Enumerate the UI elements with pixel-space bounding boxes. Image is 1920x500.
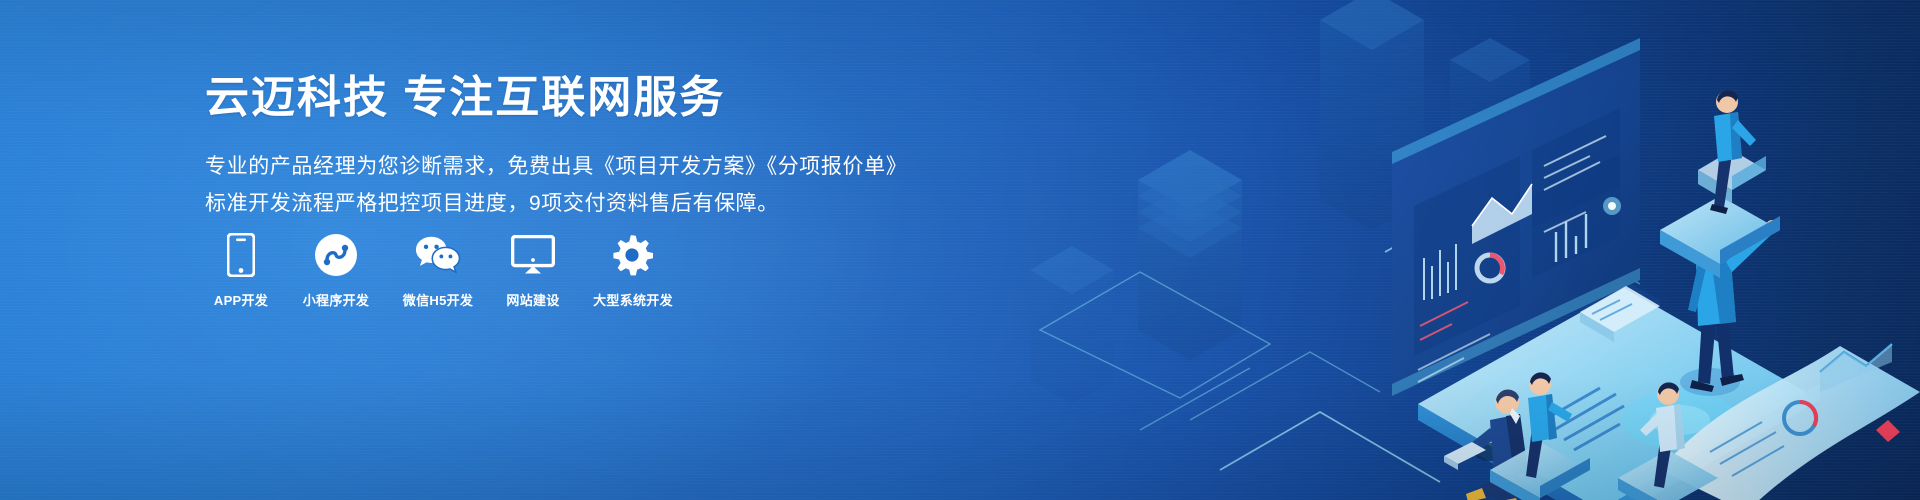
hero-subtitle: 专业的产品经理为您诊断需求，免费出具《项目开发方案》《分项报价单》 标准开发流程… (205, 148, 905, 222)
service-label: 大型系统开发 (593, 290, 673, 309)
mobile-phone-icon (218, 232, 264, 278)
gear-icon (610, 232, 656, 278)
service-item-wechat-h5[interactable]: 微信H5开发 (395, 232, 481, 309)
subtitle-line-2: 标准开发流程严格把控项目进度，9项交付资料售后有保障。 (205, 185, 905, 222)
monitor-icon (510, 232, 556, 278)
hero-banner: 云迈科技 专注互联网服务 专业的产品经理为您诊断需求，免费出具《项目开发方案》《… (0, 0, 1920, 500)
service-item-enterprise-system[interactable]: 大型系统开发 (585, 232, 681, 309)
service-label: 微信H5开发 (403, 290, 473, 309)
service-label: 网站建设 (506, 290, 559, 309)
person-on-pedestal (1660, 90, 1780, 278)
subtitle-line-1: 专业的产品经理为您诊断需求，免费出具《项目开发方案》《分项报价单》 (205, 148, 905, 185)
service-list: APP开发 小程序开发 (205, 232, 681, 309)
isometric-data-platform-illustration (1020, 0, 1920, 500)
service-item-app[interactable]: APP开发 (205, 232, 277, 309)
hero-copy: 云迈科技 专注互联网服务 专业的产品经理为您诊断需求，免费出具《项目开发方案》《… (205, 72, 905, 222)
service-item-miniprogram[interactable]: 小程序开发 (293, 232, 379, 309)
service-label: 小程序开发 (303, 290, 370, 309)
page-title: 云迈科技 专注互联网服务 (205, 72, 905, 124)
mini-program-icon (313, 232, 359, 278)
service-item-website[interactable]: 网站建设 (497, 232, 569, 309)
service-label: APP开发 (214, 290, 268, 309)
wechat-icon (415, 232, 461, 278)
